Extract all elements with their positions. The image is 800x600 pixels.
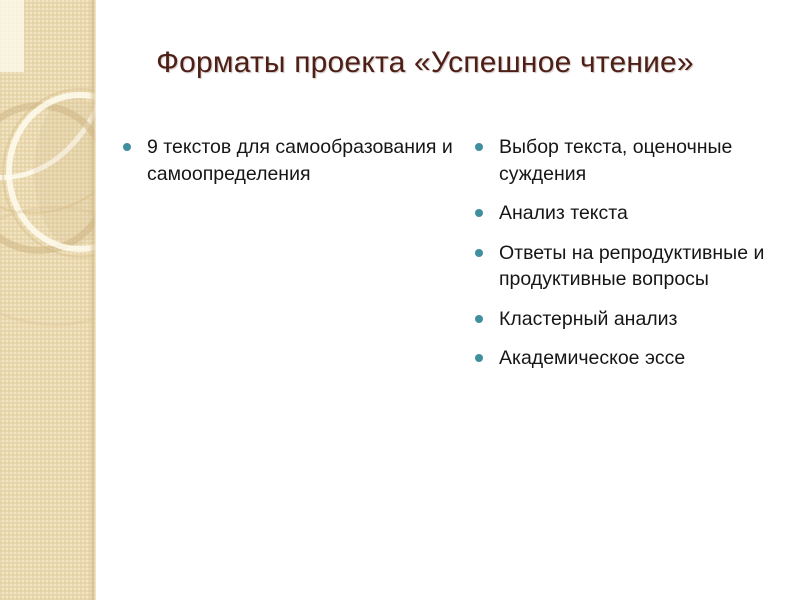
list-item: Выбор текста, оценочные суждения (472, 134, 792, 187)
right-column: Выбор текста, оценочные суждения Анализ … (472, 134, 792, 385)
presentation-slide: Форматы проекта «Успешное чтение» 9 текс… (0, 0, 800, 600)
left-column: 9 текстов для самообразования и самоопре… (120, 134, 472, 187)
slide-title: Форматы проекта «Успешное чтение» (110, 46, 740, 80)
list-item: 9 текстов для самообразования и самоопре… (120, 134, 454, 187)
list-item-label: Выбор текста, оценочные суждения (499, 136, 732, 185)
list-item: Кластерный анализ (472, 306, 792, 333)
sidebar-edge-shading (89, 0, 96, 600)
right-column-bullet-list: Выбор текста, оценочные суждения Анализ … (472, 134, 792, 372)
bullet-dot-icon (475, 143, 483, 151)
sidebar-arc-bottom-icon (0, 206, 96, 326)
list-item: Анализ текста (472, 200, 792, 227)
left-column-bullet-list: 9 текстов для самообразования и самоопре… (120, 134, 454, 187)
bullet-dot-icon (475, 209, 483, 217)
list-item-label: Ответы на репродуктивные и продуктивные … (499, 242, 764, 291)
slide-body-columns: 9 текстов для самообразования и самоопре… (120, 134, 792, 385)
list-item-label: Академическое эссе (499, 347, 685, 369)
list-item: Ответы на репродуктивные и продуктивные … (472, 240, 792, 293)
decorative-sidebar (0, 0, 96, 600)
list-item-label: Анализ текста (499, 202, 628, 224)
bullet-dot-icon (475, 315, 483, 323)
bullet-dot-icon (123, 143, 131, 151)
list-item-label: 9 текстов для самообразования и самоопре… (147, 136, 453, 185)
bullet-dot-icon (475, 354, 483, 362)
bullet-dot-icon (475, 249, 483, 257)
list-item: Академическое эссе (472, 345, 792, 372)
list-item-label: Кластерный анализ (499, 308, 678, 330)
